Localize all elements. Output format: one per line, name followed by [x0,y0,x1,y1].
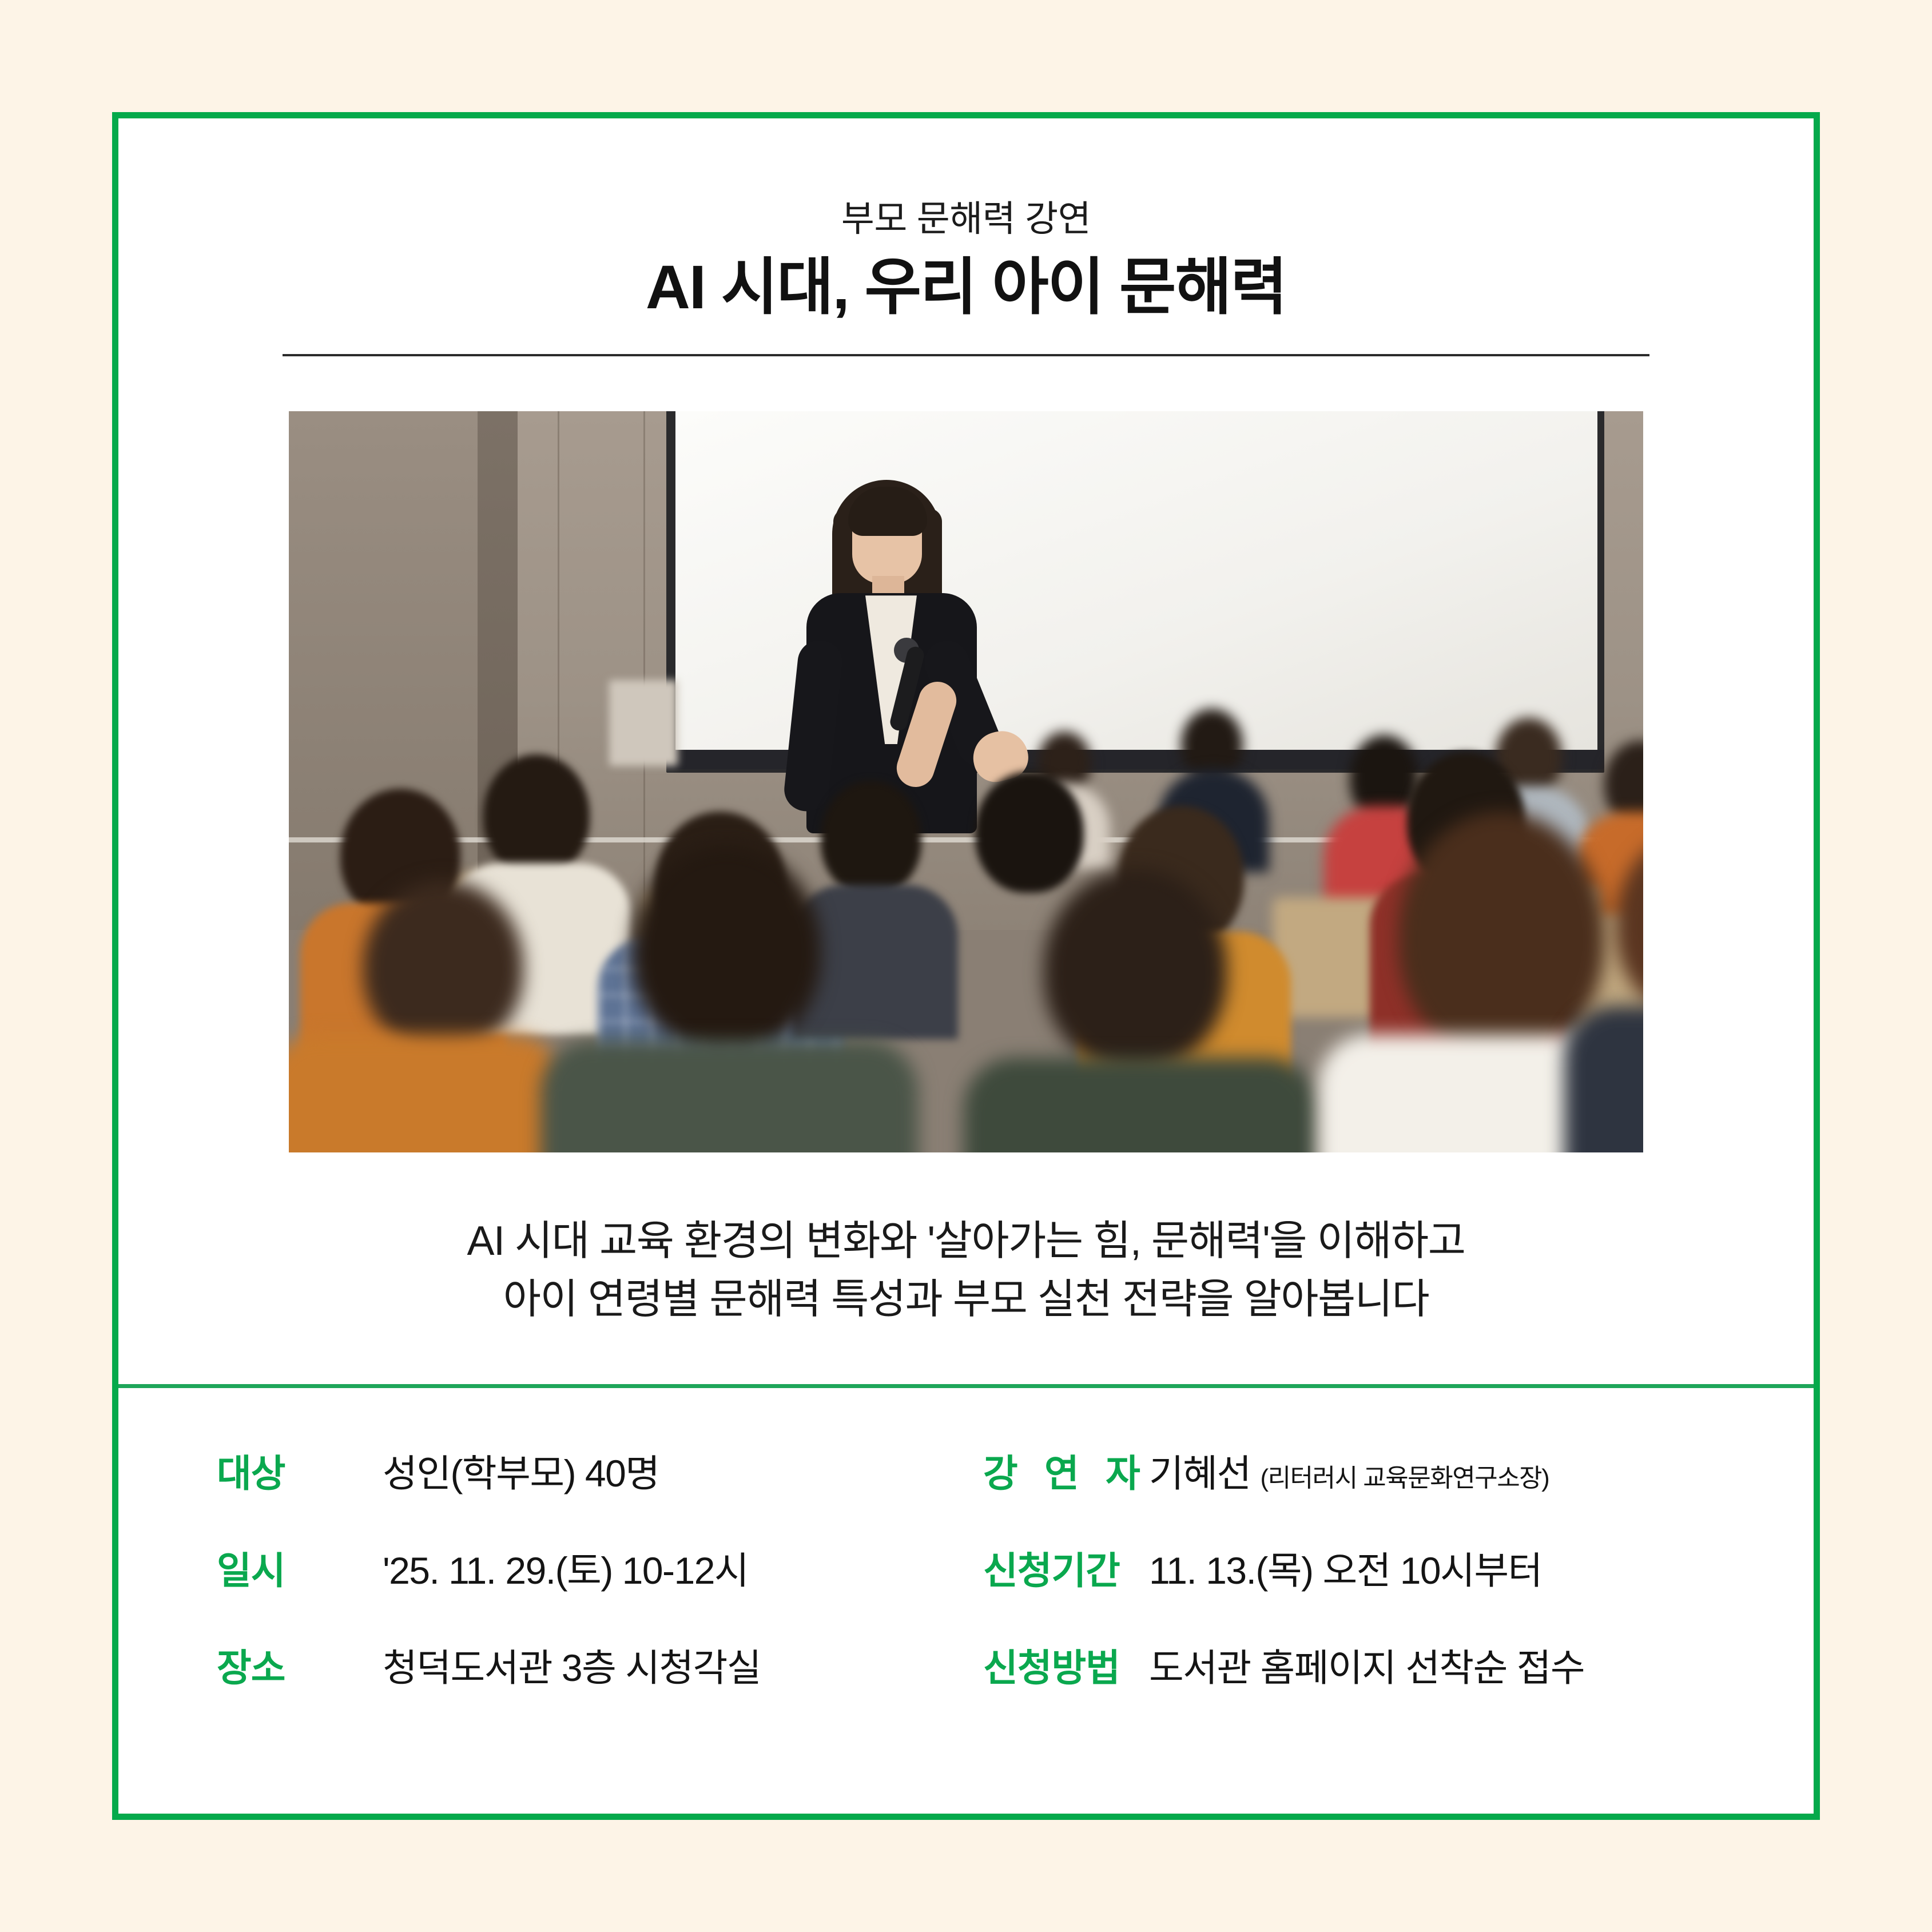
info-label-application-method: 신청방법 [983,1637,1149,1692]
info-row-datetime: 일시 '25. 11. 29.(토) 10-12시 [217,1540,949,1595]
audience-body [1564,1006,1643,1152]
audience-body [540,1040,918,1152]
info-label-target: 대상 [217,1443,383,1498]
description-line-1: AI 시대 교육 환경의 변화와 '살아가는 힘, 문해력'을 이해하고 [251,1212,1681,1270]
audience-head [1398,812,1604,1058]
info-value-datetime: '25. 11. 29.(토) 10-12시 [383,1540,748,1595]
info-value-application-method: 도서관 홈페이지 선착순 접수 [1149,1637,1584,1692]
poster-kicker: 부모 문해력 강연 [118,200,1814,239]
poster-header: 부모 문해력 강연 AI 시대, 우리 아이 문해력 [118,118,1814,356]
audience-head [1044,869,1227,1069]
info-label-location: 장소 [217,1637,383,1692]
audience-head [363,880,523,1052]
info-label-application-period: 신청기간 [983,1540,1149,1595]
speaker-name: 기혜선 [1149,1452,1251,1494]
info-row-application-method: 신청방법 도서관 홈페이지 선착순 접수 [983,1637,1715,1692]
poster-description: AI 시대 교육 환경의 변화와 '살아가는 힘, 문해력'을 이해하고 아이 … [251,1212,1681,1329]
info-value-location: 청덕도서관 3층 시청각실 [383,1637,761,1692]
audience-body [964,1058,1318,1152]
poster-card: 부모 문해력 강연 AI 시대, 우리 아이 문해력 [112,112,1820,1820]
audience-body [289,1035,563,1152]
info-label-datetime: 일시 [217,1540,383,1595]
speaker-affiliation: (리터러시 교육문화연구소장) [1261,1464,1549,1492]
info-value-target: 성인(학부모) 40명 [383,1443,659,1498]
title-divider [283,354,1649,356]
audience-head [821,781,921,895]
poster-headline: AI 시대, 우리 아이 문해력 [118,253,1814,322]
section-divider [118,1384,1814,1388]
info-row-application-period: 신청기간 11. 13.(목) 오전 10시부터 [983,1540,1715,1595]
audience-head [632,846,821,1052]
info-grid: 대상 성인(학부모) 40명 강 연 자 기혜선 (리터러시 교육문화연구소장)… [118,1443,1814,1692]
info-label-speaker: 강 연 자 [983,1443,1149,1498]
audience-head [483,754,590,876]
info-row-location: 장소 청덕도서관 3층 시청각실 [217,1637,949,1692]
lecture-photo [289,411,1643,1152]
audience-head [975,772,1084,893]
info-row-speaker: 강 연 자 기혜선 (리터러시 교육문화연구소장) [983,1443,1715,1498]
photo-scene [289,411,1643,1152]
wall-seam-line [643,411,645,930]
podium [609,680,678,766]
info-row-target: 대상 성인(학부모) 40명 [217,1443,949,1498]
description-line-2: 아이 연령별 문해력 특성과 부모 실천 전략을 알아봅니다 [251,1270,1681,1329]
info-value-speaker: 기혜선 (리터러시 교육문화연구소장) [1149,1443,1549,1498]
info-value-application-period: 11. 13.(목) 오전 10시부터 [1149,1540,1542,1595]
